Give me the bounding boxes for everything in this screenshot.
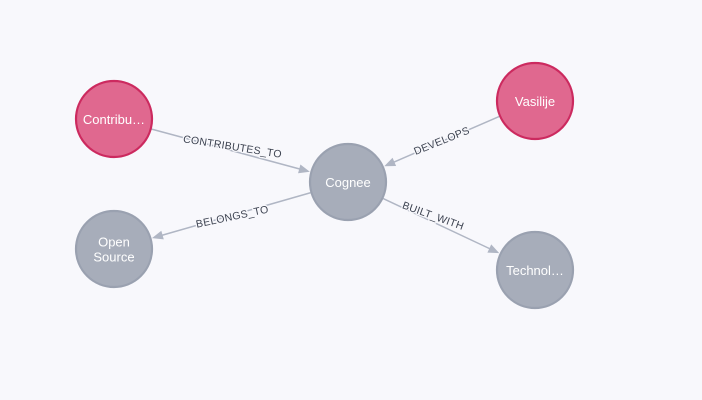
node-label: Cognee (325, 175, 371, 190)
graph-node-contributor[interactable]: Contribu… (76, 81, 152, 157)
edge-label-contributes-to: CONTRIBUTES_TO (182, 133, 282, 160)
node-label: OpenSource (93, 234, 134, 264)
edge-arrowhead (487, 244, 499, 253)
node-label: Vasilije (515, 94, 555, 109)
graph-node-open-source[interactable]: OpenSource (76, 211, 152, 287)
edge-label-belongs-to: BELONGS_TO (195, 204, 270, 231)
edge-arrowhead (152, 231, 164, 240)
edge-arrowhead (384, 158, 396, 167)
edge-arrowhead (298, 165, 310, 174)
edge-label-built-with: BUILT_WITH (401, 199, 466, 232)
graph-node-cognee[interactable]: Cognee (310, 144, 386, 220)
nodes-layer: Contribu…VasilijeCogneeOpenSourceTechnol… (76, 63, 573, 308)
node-label: Technol… (506, 263, 564, 278)
graph-node-technology[interactable]: Technol… (497, 232, 573, 308)
node-label: Contribu… (83, 112, 145, 127)
graph-visualization[interactable]: Contribu…VasilijeCogneeOpenSourceTechnol… (0, 0, 702, 400)
graph-node-vasilije[interactable]: Vasilije (497, 63, 573, 139)
graph-canvas[interactable]: Contribu…VasilijeCogneeOpenSourceTechnol… (0, 0, 702, 400)
edge-label-develops: DEVELOPS (412, 125, 471, 158)
